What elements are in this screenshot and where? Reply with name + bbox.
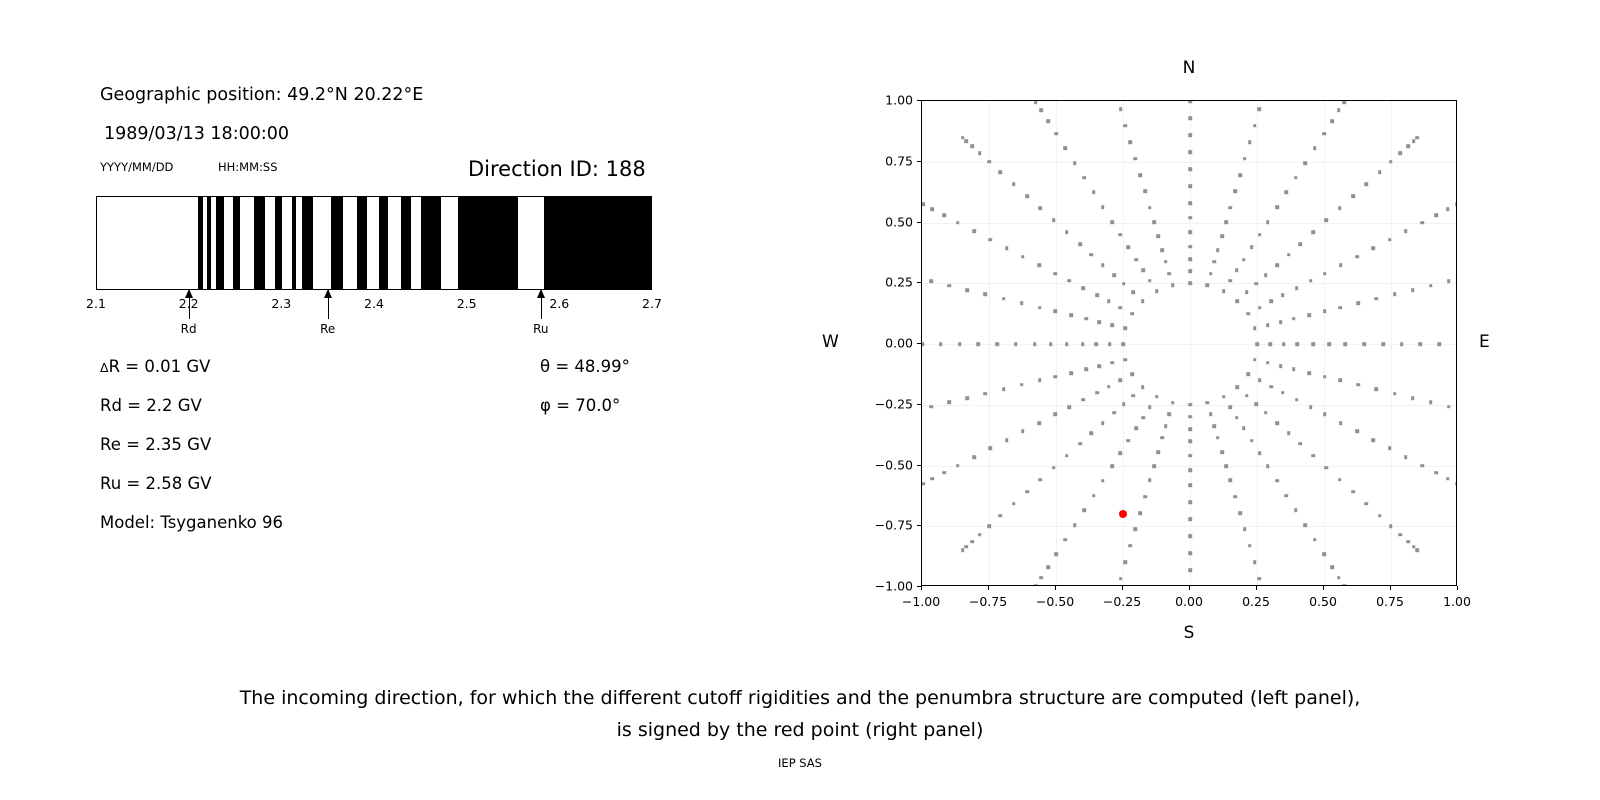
direction-point xyxy=(1393,293,1397,297)
direction-point xyxy=(1322,553,1326,557)
direction-point xyxy=(1372,438,1376,442)
direction-point xyxy=(1309,405,1313,409)
direction-point xyxy=(1073,523,1077,527)
penumbra-tick-label: 2.1 xyxy=(86,296,106,311)
penumbra-figure xyxy=(96,196,652,290)
direction-point xyxy=(1078,442,1082,446)
direction-point xyxy=(1209,272,1213,276)
direction-point xyxy=(1135,258,1139,262)
direction-point xyxy=(989,238,993,242)
direction-point xyxy=(1323,309,1327,313)
gridline-horizontal xyxy=(922,526,1456,527)
direction-point xyxy=(1220,450,1224,454)
y-tick-mark xyxy=(917,282,921,283)
direction-point xyxy=(1455,482,1457,486)
time-format-hint: HH:MM:SS xyxy=(218,160,278,174)
direction-point xyxy=(1258,107,1262,111)
y-tick-mark xyxy=(917,222,921,223)
direction-point xyxy=(1419,342,1423,346)
direction-point xyxy=(1171,284,1175,288)
direction-point xyxy=(1355,430,1359,434)
y-tick-label: −0.75 xyxy=(859,518,913,533)
direction-point xyxy=(1005,438,1009,442)
direction-point xyxy=(1119,452,1123,456)
direction-point xyxy=(1242,258,1246,262)
direction-point xyxy=(1255,342,1259,346)
direction-point xyxy=(1250,245,1254,249)
direction-point xyxy=(1119,577,1123,581)
direction-point xyxy=(1167,413,1171,417)
direction-point xyxy=(1325,218,1329,222)
x-tick-mark xyxy=(1189,586,1190,590)
footer-credit: IEP SAS xyxy=(0,756,1600,770)
direction-point xyxy=(1188,551,1192,555)
direction-point xyxy=(1307,371,1311,375)
selected-direction-point[interactable] xyxy=(1119,510,1127,518)
direction-point xyxy=(1266,220,1270,224)
direction-point xyxy=(984,293,988,297)
direction-point xyxy=(1351,490,1355,494)
param-model: Model: Tsyganenko 96 xyxy=(100,513,283,532)
direction-point xyxy=(1111,323,1115,327)
forbidden-band xyxy=(207,197,211,289)
direction-point xyxy=(1275,421,1279,425)
penumbra-tick-label: 2.7 xyxy=(642,296,662,311)
direction-point xyxy=(1338,306,1342,310)
direction-point xyxy=(1266,361,1270,365)
gridline-horizontal xyxy=(922,162,1456,163)
direction-point xyxy=(976,342,980,346)
direction-point xyxy=(1455,202,1457,206)
direction-point xyxy=(1245,291,1249,295)
direction-point xyxy=(1012,502,1016,506)
direction-point xyxy=(1393,392,1397,396)
direction-point xyxy=(1188,483,1192,487)
direction-point xyxy=(1378,170,1382,174)
direction-point xyxy=(1002,297,1006,301)
direction-point xyxy=(1248,544,1252,548)
direction-point xyxy=(1281,391,1285,395)
direction-point xyxy=(1264,273,1268,277)
direction-point xyxy=(1404,455,1408,459)
y-tick-mark xyxy=(917,404,921,405)
direction-point xyxy=(1313,146,1317,150)
direction-point xyxy=(1098,364,1102,368)
direction-point xyxy=(1124,560,1128,564)
rigidity-marker-label-ru: Ru xyxy=(533,322,548,336)
direction-point xyxy=(1130,373,1134,377)
direction-point xyxy=(929,279,933,283)
direction-point xyxy=(956,221,960,225)
direction-point xyxy=(1188,150,1192,154)
direction-point xyxy=(939,342,943,346)
direction-point xyxy=(1238,173,1242,177)
direction-point xyxy=(958,342,962,346)
direction-point xyxy=(1141,385,1145,389)
gridline-horizontal xyxy=(922,344,1456,345)
direction-point xyxy=(1406,540,1410,544)
direction-point xyxy=(1095,294,1099,298)
direction-point xyxy=(1389,524,1393,528)
forbidden-band xyxy=(379,197,388,289)
direction-point xyxy=(1404,229,1408,233)
direction-point xyxy=(1108,342,1112,346)
direction-point xyxy=(1101,263,1105,267)
direction-point xyxy=(1054,309,1058,313)
direction-point xyxy=(1447,279,1451,283)
direction-point xyxy=(921,342,924,346)
direction-point xyxy=(1420,464,1424,468)
y-tick-mark xyxy=(917,343,921,344)
direction-point xyxy=(1068,279,1072,283)
direction-point xyxy=(972,455,976,459)
x-tick-label: 0.75 xyxy=(1376,594,1404,609)
rigidity-marker-label-rd: Rd xyxy=(181,322,197,336)
direction-point xyxy=(1119,306,1123,310)
direction-point xyxy=(1311,231,1315,235)
direction-point xyxy=(1054,272,1058,276)
direction-point xyxy=(1065,454,1069,458)
direction-point xyxy=(1021,430,1025,434)
direction-point xyxy=(1378,514,1382,518)
direction-point xyxy=(999,514,1003,518)
param-delta-r: ΔR = 0.01 GV xyxy=(100,357,210,376)
direction-point xyxy=(1065,342,1069,346)
direction-point xyxy=(1295,342,1299,346)
direction-point xyxy=(1122,402,1126,406)
direction-point xyxy=(1038,379,1042,383)
direction-point xyxy=(1049,342,1053,346)
direction-point xyxy=(1235,416,1239,420)
direction-point xyxy=(1416,136,1420,140)
y-tick-label: −0.50 xyxy=(859,457,913,472)
direction-point xyxy=(1266,464,1270,468)
direction-point xyxy=(1281,294,1285,298)
direction-point xyxy=(1095,391,1099,395)
direction-point xyxy=(1258,452,1262,456)
direction-point xyxy=(1429,284,1433,288)
forbidden-band xyxy=(357,197,367,289)
gridline-vertical xyxy=(989,101,990,585)
direction-point xyxy=(1038,306,1042,310)
direction-point xyxy=(1206,284,1210,288)
direction-point xyxy=(1141,269,1145,273)
direction-point xyxy=(1212,424,1216,428)
x-tick-mark xyxy=(1055,586,1056,590)
direction-point xyxy=(1188,500,1192,504)
direction-point xyxy=(966,396,970,400)
direction-point xyxy=(1054,132,1058,136)
x-tick-label: −0.75 xyxy=(969,594,1007,609)
direction-point xyxy=(1160,248,1164,252)
x-tick-label: 0.00 xyxy=(1175,594,1203,609)
direction-point xyxy=(1342,100,1346,104)
direction-point xyxy=(1092,191,1096,195)
direction-point xyxy=(1342,584,1346,586)
direction-point xyxy=(1188,257,1192,261)
direction-point xyxy=(1143,495,1147,499)
direction-point xyxy=(1209,413,1213,417)
direction-point xyxy=(1119,107,1123,111)
direction-point xyxy=(1416,548,1420,552)
x-tick-mark xyxy=(1390,586,1391,590)
direction-point xyxy=(1143,190,1147,194)
direction-point xyxy=(1253,560,1257,564)
direction-point xyxy=(1372,246,1376,250)
direction-point xyxy=(1112,411,1116,415)
direction-point xyxy=(1355,255,1359,259)
direction-point xyxy=(1351,194,1355,198)
direction-point xyxy=(1253,358,1257,362)
direction-point xyxy=(995,342,999,346)
direction-point xyxy=(1279,364,1283,368)
direction-point xyxy=(956,464,960,468)
x-tick-mark xyxy=(1457,586,1458,590)
direction-point xyxy=(1085,317,1089,321)
direction-point xyxy=(999,170,1003,174)
direction-point xyxy=(1356,383,1360,387)
direction-point xyxy=(1298,243,1302,247)
direction-point xyxy=(1279,320,1283,324)
direction-point xyxy=(965,545,969,549)
gridline-vertical xyxy=(1324,101,1325,585)
direction-point xyxy=(1110,464,1114,468)
forbidden-band xyxy=(458,197,518,289)
direction-point xyxy=(1338,206,1342,210)
direction-point xyxy=(978,151,982,155)
direction-point xyxy=(1389,160,1393,164)
direction-point xyxy=(1309,279,1313,283)
direction-point xyxy=(1307,313,1311,317)
direction-point xyxy=(1110,220,1114,224)
direction-point xyxy=(1141,416,1145,420)
direction-point xyxy=(989,447,993,451)
direction-point xyxy=(1298,442,1302,446)
param-ru: Ru = 2.58 GV xyxy=(100,474,212,493)
direction-point xyxy=(1258,233,1262,237)
direction-point xyxy=(1285,191,1289,195)
direction-point xyxy=(1330,565,1334,569)
forbidden-band xyxy=(544,197,652,289)
direction-point xyxy=(1399,533,1403,537)
direction-point xyxy=(1235,269,1239,273)
x-tick-label: −0.25 xyxy=(1103,594,1141,609)
direction-point xyxy=(931,477,935,481)
gridline-vertical xyxy=(1391,101,1392,585)
y-tick-label: 0.00 xyxy=(859,336,913,351)
direction-point xyxy=(1129,140,1133,144)
direction-point xyxy=(1303,161,1307,165)
direction-point xyxy=(1141,299,1145,303)
y-tick-mark xyxy=(917,100,921,101)
direction-point xyxy=(1152,464,1156,468)
direction-point xyxy=(1002,387,1006,391)
direction-point xyxy=(1303,523,1307,527)
direction-point xyxy=(1399,151,1403,155)
direction-point xyxy=(1212,260,1216,264)
direction-point xyxy=(1253,326,1257,330)
direction-point xyxy=(1188,133,1192,137)
direction-point xyxy=(1285,494,1289,498)
direction-point xyxy=(1188,281,1192,285)
direction-point xyxy=(1338,379,1342,383)
direction-point xyxy=(1012,182,1016,186)
sky-map-panel: N S W E −1.00−0.75−0.50−0.250.000.250.50… xyxy=(800,0,1600,660)
direction-point xyxy=(1246,312,1250,316)
direction-point xyxy=(942,213,946,217)
direction-point xyxy=(1101,421,1105,425)
direction-point xyxy=(1069,371,1073,375)
caption-line-2: is signed by the red point (right panel) xyxy=(0,714,1600,746)
direction-point xyxy=(1090,432,1094,436)
param-delta-r-text: R = 0.01 GV xyxy=(109,357,211,376)
direction-point xyxy=(1375,387,1379,391)
direction-point xyxy=(978,533,982,537)
direction-point xyxy=(1082,176,1086,180)
y-tick-mark xyxy=(917,161,921,162)
direction-point xyxy=(1131,394,1135,398)
direction-point xyxy=(1287,432,1291,436)
direction-point xyxy=(1188,230,1192,234)
direction-point xyxy=(1152,220,1156,224)
direction-point xyxy=(1446,477,1450,481)
direction-point xyxy=(1269,385,1273,389)
direction-point xyxy=(987,524,991,528)
direction-point xyxy=(1411,288,1415,292)
direction-point xyxy=(1046,565,1050,569)
direction-point xyxy=(1337,109,1341,113)
direction-point xyxy=(1188,568,1192,572)
direction-point xyxy=(1275,205,1279,209)
direction-point xyxy=(1078,243,1082,247)
direction-point xyxy=(1167,272,1171,276)
forbidden-band xyxy=(401,197,411,289)
rigidity-marker-label-re: Re xyxy=(320,322,335,336)
direction-point xyxy=(1081,342,1085,346)
direction-point xyxy=(1344,342,1348,346)
direction-point xyxy=(947,284,951,288)
direction-point xyxy=(1111,361,1115,365)
direction-point xyxy=(1069,313,1073,317)
direction-point xyxy=(1323,272,1327,276)
x-tick-mark xyxy=(1122,586,1123,590)
direction-point xyxy=(1020,383,1024,387)
direction-point xyxy=(1034,100,1038,104)
gridline-vertical xyxy=(1056,101,1057,585)
direction-point xyxy=(1224,220,1228,224)
direction-point xyxy=(1090,253,1094,257)
figure-caption: The incoming direction, for which the di… xyxy=(0,682,1600,746)
direction-point xyxy=(1236,299,1240,303)
direction-point xyxy=(1054,413,1058,417)
direction-point xyxy=(1122,282,1126,286)
direction-point xyxy=(1434,213,1438,217)
direction-point xyxy=(1338,478,1342,482)
direction-point xyxy=(1228,279,1232,283)
direction-point xyxy=(1094,342,1098,346)
direction-point xyxy=(1038,478,1042,482)
direction-point xyxy=(1123,326,1127,330)
direction-point xyxy=(1420,221,1424,225)
direction-point xyxy=(1275,479,1279,483)
y-tick-label: 0.25 xyxy=(859,275,913,290)
direction-point xyxy=(1411,396,1415,400)
x-tick-mark xyxy=(1323,586,1324,590)
direction-point xyxy=(1037,421,1041,425)
direction-point xyxy=(1356,301,1360,305)
direction-point xyxy=(1188,116,1192,120)
direction-point xyxy=(1264,411,1268,415)
direction-point xyxy=(1323,375,1327,379)
direction-point xyxy=(1155,290,1159,294)
direction-point xyxy=(1228,405,1232,409)
compass-label-north: N xyxy=(1183,58,1196,78)
direction-point xyxy=(1275,263,1279,267)
direction-point xyxy=(1148,279,1152,283)
forbidden-band xyxy=(302,197,313,289)
direction-point xyxy=(1434,471,1438,475)
direction-point xyxy=(1246,373,1250,377)
rigidity-marker-arrow-rd xyxy=(189,289,190,319)
direction-point xyxy=(1328,342,1332,346)
direction-point xyxy=(1171,401,1175,405)
direction-point xyxy=(1292,367,1296,371)
direction-point xyxy=(947,401,951,405)
direction-point xyxy=(1081,398,1085,402)
x-tick-label: −1.00 xyxy=(902,594,940,609)
y-tick-label: 0.50 xyxy=(859,214,913,229)
direction-point xyxy=(1388,238,1392,242)
direction-point xyxy=(1206,401,1210,405)
direction-point xyxy=(1038,206,1042,210)
direction-point xyxy=(1188,415,1192,419)
y-tick-mark xyxy=(917,525,921,526)
direction-point xyxy=(1266,323,1270,327)
direction-point xyxy=(1046,119,1050,123)
gridline-vertical xyxy=(1190,101,1191,585)
x-tick-label: 0.25 xyxy=(1242,594,1270,609)
forbidden-band xyxy=(198,197,203,289)
direction-point xyxy=(1188,517,1192,521)
direction-point xyxy=(1339,421,1343,425)
direction-point xyxy=(1020,301,1024,305)
y-tick-label: 1.00 xyxy=(859,93,913,108)
datetime-label: 1989/03/13 18:00:00 xyxy=(104,124,289,144)
direction-point xyxy=(1294,508,1298,512)
direction-point xyxy=(1188,427,1192,431)
y-tick-mark xyxy=(917,586,921,587)
direction-point xyxy=(1081,286,1085,290)
forbidden-band xyxy=(216,197,224,289)
direction-point xyxy=(1098,320,1102,324)
direction-point xyxy=(1228,206,1232,210)
direction-point xyxy=(1388,447,1392,451)
penumbra-tick-label: 2.3 xyxy=(271,296,291,311)
direction-point xyxy=(1323,413,1327,417)
direction-point xyxy=(1243,157,1247,161)
direction-point xyxy=(1188,184,1192,188)
direction-point xyxy=(1188,534,1192,538)
direction-point xyxy=(1130,312,1134,316)
x-tick-mark xyxy=(1256,586,1257,590)
direction-point xyxy=(1339,263,1343,267)
penumbra-panel: Geographic position: 49.2°N 20.22°E 1989… xyxy=(0,0,800,660)
param-rd: Rd = 2.2 GV xyxy=(100,396,202,415)
direction-point xyxy=(1313,538,1317,542)
direction-point xyxy=(1253,124,1257,128)
direction-point xyxy=(1068,405,1072,409)
direction-point xyxy=(1337,576,1341,580)
